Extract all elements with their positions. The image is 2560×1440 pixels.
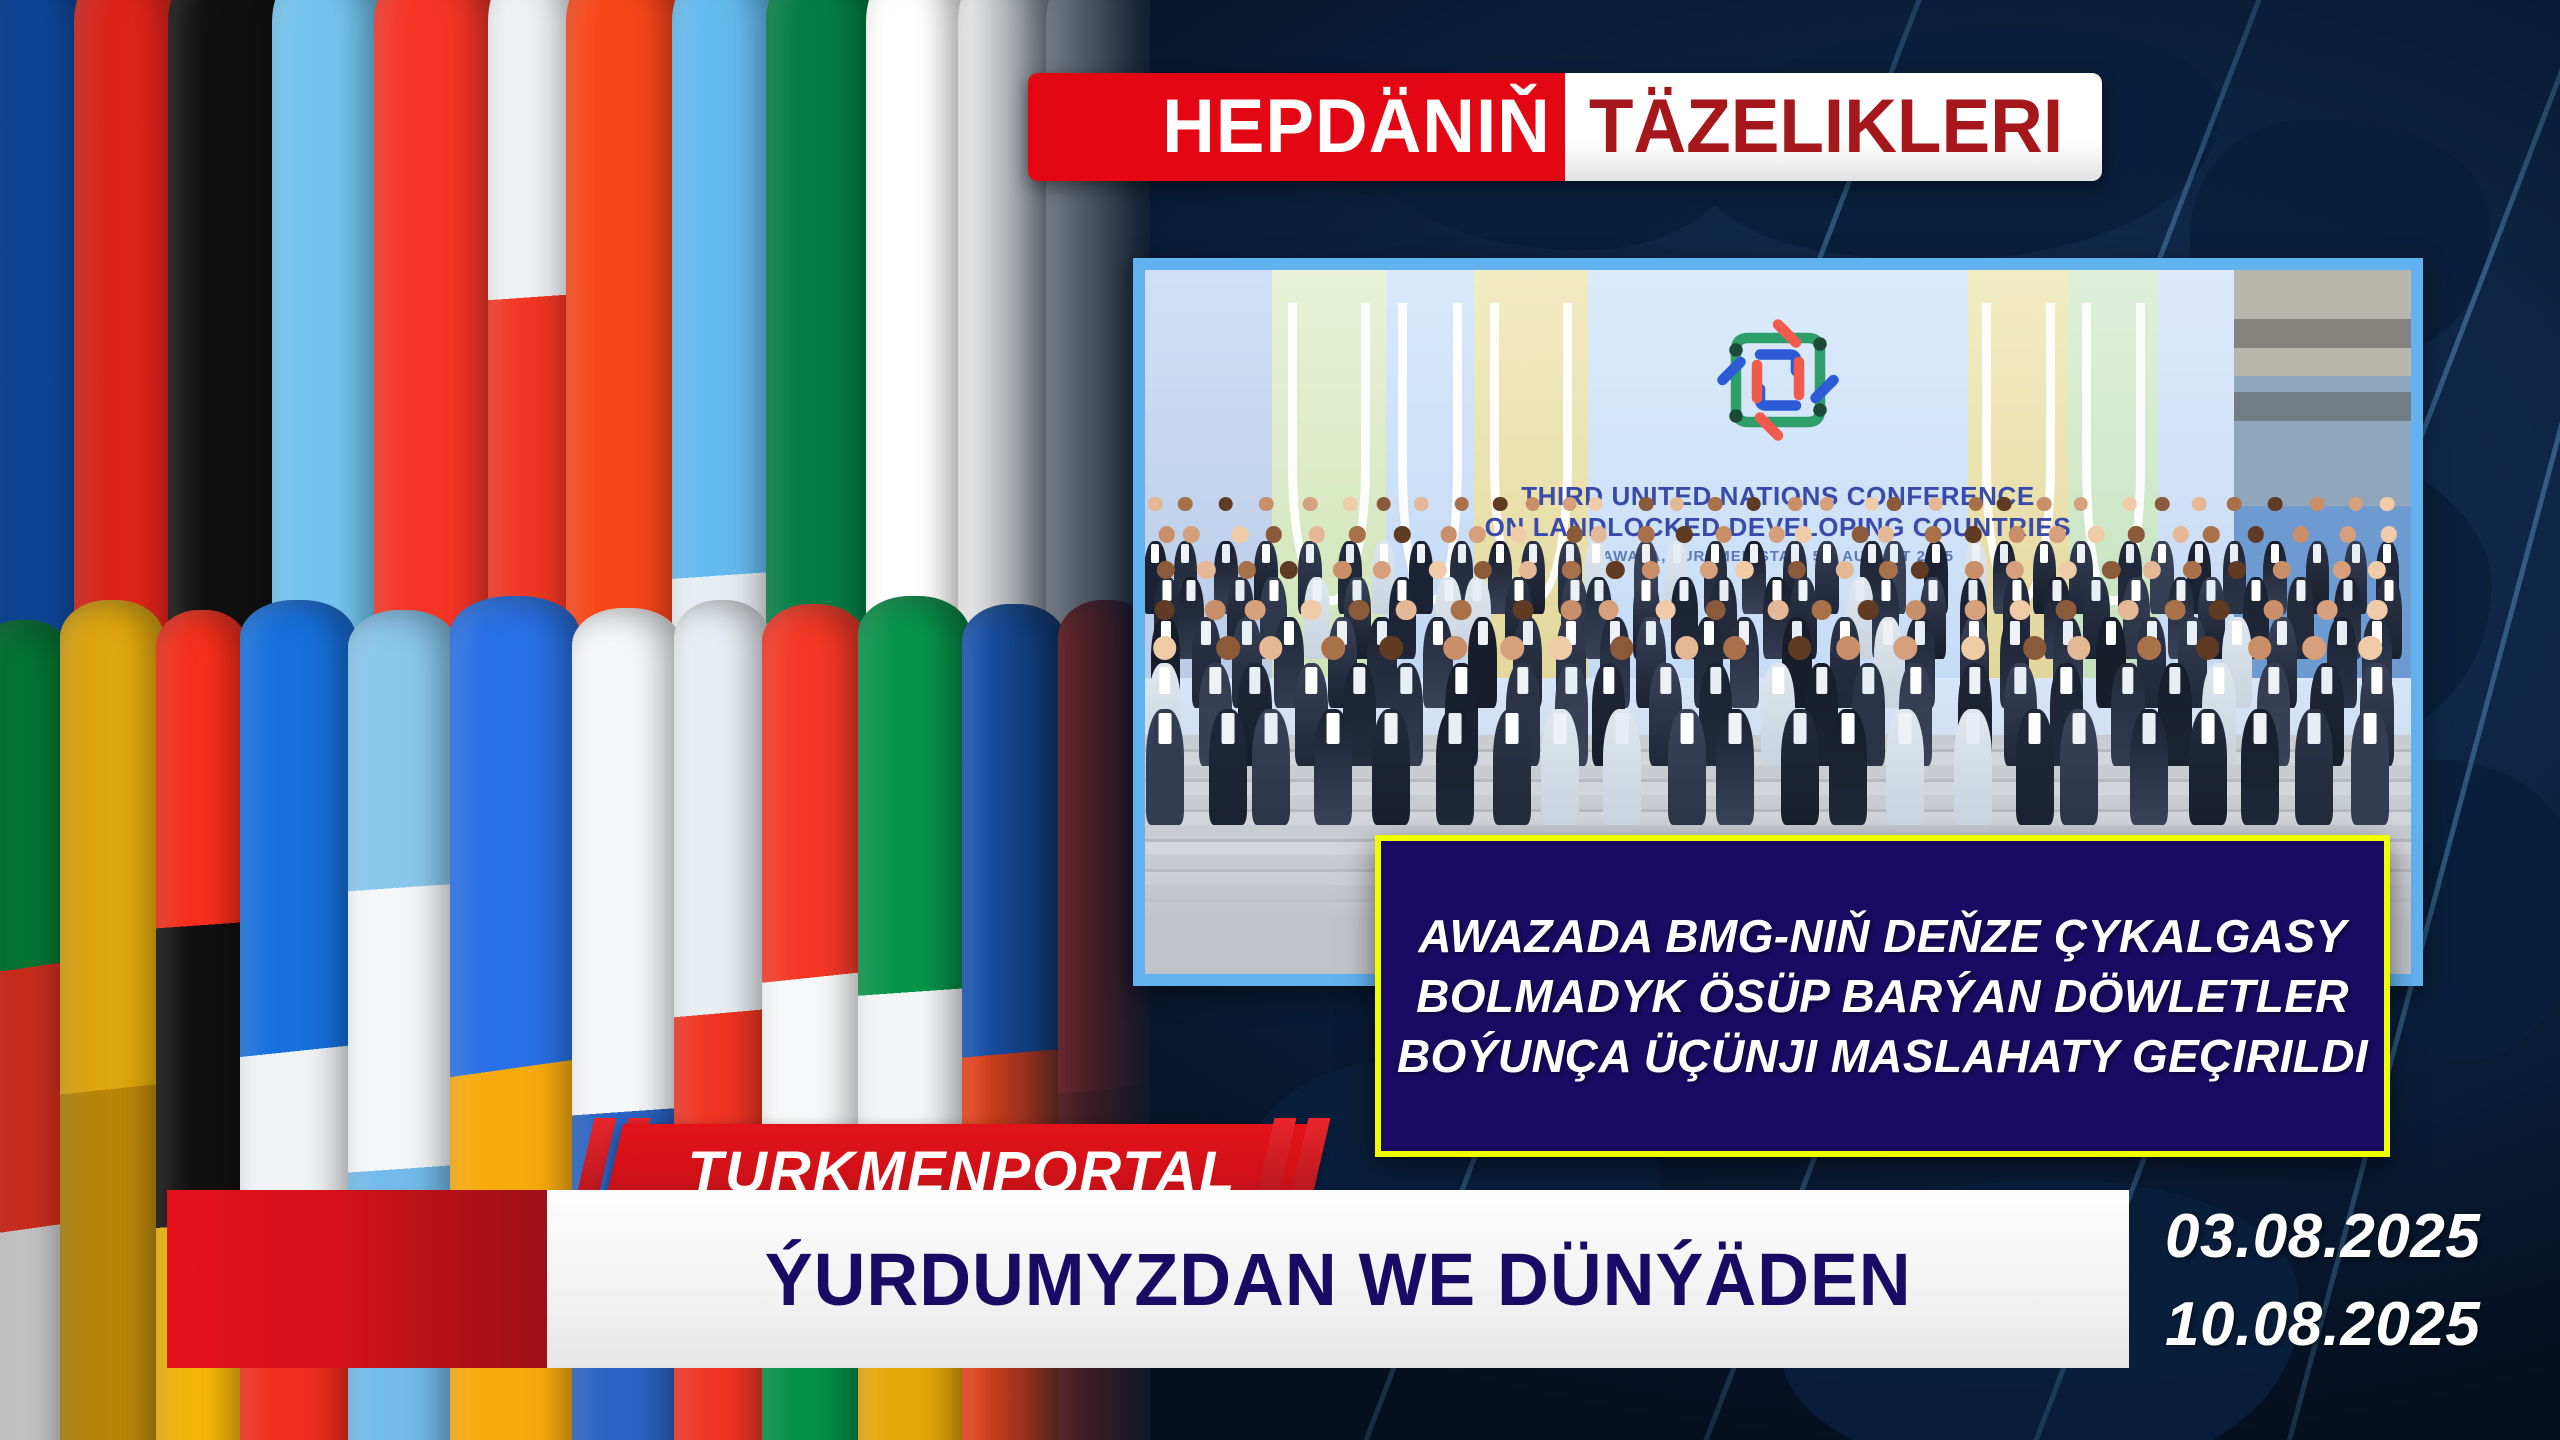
delegate-shirt [1592,544,1600,563]
delegate-head [2227,497,2242,512]
delegate-head [2138,636,2162,660]
delegate-figure [1781,709,1819,826]
delegate-head [1610,636,1634,660]
delegate-shirt [2213,667,2224,694]
banner-red-half: HEPDÄNIŇ [1028,73,1565,181]
delegate-head [1563,497,1578,512]
delegate-shirt [1517,667,1528,694]
delegate-head [2023,636,2047,660]
delegate-head [2208,600,2229,621]
delegate-shirt [1201,621,1211,645]
delegate-shirt [1710,667,1721,694]
bottom-red-block [167,1190,547,1368]
delegate-shirt [1750,544,1758,563]
delegate-shirt [2010,621,2020,645]
delegate-head [1396,600,1417,621]
delegate-shirt [1222,713,1235,743]
delegate-shirt [1680,713,1693,743]
delegate-shirt [1594,580,1603,601]
delegate-head [2165,600,2186,621]
delegate-shirt [2061,667,2072,694]
delegate-shirt [1181,544,1189,563]
delegate-figure [2130,709,2168,826]
delegate-shirt [2187,621,2197,645]
delegate-head [1343,497,1358,512]
delegate-head [1178,497,1193,512]
delegate-shirt [2028,713,2041,743]
delegate-shirt [1899,713,1912,743]
delegate-head [1588,497,1603,512]
delegate-figure [1730,617,1760,708]
delegate-head [1218,497,1233,512]
delegate-shirt [1284,621,1294,645]
delegate-shirt [1719,580,1728,601]
delegate-figure [1886,709,1924,826]
delegate-head [1887,497,1902,512]
delegate-shirt [2195,544,2203,563]
delegate-shirt [1523,621,1533,645]
delegate-head [1836,636,1860,660]
delegate-shirt [2176,580,2185,601]
delegate-shirt [2207,580,2216,601]
delegate-shirt [1456,667,1467,694]
delegate-shirt [2077,544,2085,563]
delegate-shirt [2201,713,2214,743]
delegate-shirt [1398,580,1407,601]
delegate-head [2067,636,2091,660]
delegate-shirt [2364,713,2377,743]
delegate-shirt [2158,544,2166,563]
delegate-head [1259,497,1274,512]
delegate-head [2273,561,2291,579]
delegate-shirt [1249,667,1260,694]
delegate-head [1500,636,1524,660]
delegate-head [1836,561,1854,579]
delegate-shirt [1772,580,1781,601]
delegate-head [2317,600,2338,621]
delegate-shirt [1793,713,1806,743]
delegate-figure [1493,709,1531,826]
delegate-shirt [2040,544,2048,563]
delegate-shirt [1306,544,1314,563]
delegate-head [1156,561,1174,579]
delegate-shirt [1262,544,1270,563]
delegate-shirt [1711,544,1719,563]
delegate-head [1205,600,1226,621]
delegate-shirt [1646,621,1656,645]
delegate-shirt [1868,544,1876,563]
delegate-figure [1716,709,1754,826]
date-range: 03.08.2025 10.08.2025 [2165,1206,2525,1356]
delegate-head [1244,600,1265,621]
delegate-head [1548,636,1572,660]
delegate-shirt [1327,713,1340,743]
delegate-shirt [2232,621,2242,645]
delegate-shirt [2308,713,2321,743]
delegate-head [1513,600,1534,621]
delegates-crowd [1145,552,2411,805]
delegate-shirt [1385,713,1398,743]
delegate-head [2010,600,2031,621]
delegate-head [1606,561,1624,579]
delegate-head [1997,497,2012,512]
delegate-shirt [1799,580,1808,601]
delegate-shirt [2106,621,2116,645]
delegate-shirt [1642,580,1651,601]
delegate-shirt [1506,713,1519,743]
delegate-figure [2016,709,2054,826]
delegate-shirt [1881,580,1890,601]
delegate-head [2074,497,2089,512]
delegate-shirt [1566,667,1577,694]
delegate-shirt [2321,667,2332,694]
delegate-shirt [1151,544,1159,563]
delegate-shirt [1883,621,1893,645]
delegate-head [2056,600,2077,621]
headline-line-2: BOLMADYK ÖSÜP BARÝAN DÖWLETLER [1416,973,2349,1019]
delegate-head [2263,600,2284,621]
delegate-figure [1668,709,1706,826]
delegate-shirt [1660,667,1671,694]
banner-white-half: TÄZELIKLERI [1565,73,2102,181]
delegate-figure [2189,709,2227,826]
delegate-shirt [1615,713,1628,743]
delegate-head [1598,600,1619,621]
bottom-white-bar: ÝURDUMYZDAN WE DÜNÝÄDEN [547,1190,2129,1368]
delegate-head [1451,600,1472,621]
delegate-figure [2060,709,2098,826]
delegate-head [1217,636,1241,660]
delegate-shirt [1890,544,1898,563]
delegate-shirt [1210,667,1221,694]
delegate-head [1705,600,1726,621]
delegate-shirt [1823,544,1831,563]
delegate-head [2123,497,2138,512]
delegate-shirt [1478,621,1488,645]
delegate-shirt [1433,621,1443,645]
delegate-head [1443,636,1467,660]
delegate-shirt [1554,713,1567,743]
delegate-figure [2351,709,2389,826]
delegate-shirt [1313,580,1322,601]
delegate-shirt [1863,667,1874,694]
delegate-shirt [1449,713,1462,743]
delegate-figure [2295,709,2333,826]
banner-word-hepdanin: HEPDÄNIŇ [1162,89,1551,165]
delegate-shirt [1703,621,1713,645]
delegate-head [1561,600,1582,621]
delegate-head [1526,497,1541,512]
delegate-shirt [1910,667,1921,694]
delegate-head [1811,600,1832,621]
delegate-shirt [1969,580,1978,601]
delegate-shirt [2015,667,2026,694]
delegate-shirt [2384,580,2393,601]
delegate-shirt [1967,713,1980,743]
delegate-head [2380,497,2395,512]
delegate-shirt [2343,580,2352,601]
delegate-shirt [1932,544,1940,563]
delegate-head [1929,497,1944,512]
delegate-shirt [1306,667,1317,694]
delegate-head [1655,600,1676,621]
delegate-shirt [1728,713,1741,743]
delegate-shirt [1514,580,1523,601]
delegate-head [1259,636,1283,660]
delegate-head [1454,497,1469,512]
delegate-shirt [1162,580,1171,601]
delegate-shirt [1856,580,1865,601]
delegate-head [2367,600,2388,621]
delegate-head [1905,600,1926,621]
headline-line-1: AWAZADA BMG-NIŇ DEŇZE ÇYKALGASY [1418,913,2346,959]
delegate-head [2310,497,2325,512]
delegate-shirt [2337,621,2347,645]
delegate-head [2155,497,2170,512]
delegate-figure [1372,709,1410,826]
delegate-shirt [1816,667,1827,694]
delegate-head [2037,497,2052,512]
delegate-shirt [1222,544,1230,563]
delegate-figure [1146,709,1184,826]
delegate-head [2117,600,2138,621]
delegate-head [2196,636,2220,660]
delegate-shirt [2383,544,2391,563]
delegate-head [1968,497,1983,512]
delegate-head [2358,636,2382,660]
delegate-head [2302,636,2326,660]
delegate-head [1380,636,1404,660]
delegate-head [1675,636,1699,660]
delegate-head [1376,497,1391,512]
delegate-shirt [1969,667,1980,694]
delegate-shirt [2253,713,2266,743]
delegate-shirt [1346,544,1354,563]
delegate-shirt [2122,667,2133,694]
delegate-head [1148,497,1163,512]
delegate-head [1280,561,1298,579]
delegate-head [1414,497,1429,512]
delegate-shirt [1242,621,1252,645]
delegate-head [1238,561,1256,579]
delegate-shirt [2012,580,2021,601]
date-to: 10.08.2025 [2165,1294,2480,1356]
delegate-shirt [1680,580,1689,601]
delegate-shirt [1236,580,1245,601]
delegate-shirt [1353,580,1362,601]
delegate-head [1820,497,1835,512]
delegate-head [2192,497,2207,512]
headline-box: AWAZADA BMG-NIŇ DEŇZE ÇYKALGASY BOLMADYK… [1375,835,2390,1157]
delegate-shirt [1158,713,1171,743]
delegate-head [1893,636,1917,660]
delegate-head [1768,600,1789,621]
un-lldc3-emblem-icon [1703,305,1853,455]
delegate-shirt [1264,713,1277,743]
delegate-head [1747,497,1762,512]
delegate-figure [1252,709,1290,826]
delegate-shirt [1417,544,1425,563]
delegate-shirt [1354,667,1365,694]
delegate-shirt [2296,580,2305,601]
delegate-head [1723,636,1747,660]
date-from: 03.08.2025 [2165,1206,2480,1268]
delegate-head [1961,636,1985,660]
delegate-head [1301,600,1322,621]
weekly-news-banner: HEPDÄNIŇ TÄZELIKLERI [1028,73,2102,181]
banner-word-tazelikleri: TÄZELIKLERI [1589,89,2063,165]
delegate-figure [2241,709,2279,826]
delegate-shirt [1929,580,1938,601]
delegate-shirt [1496,544,1504,563]
delegate-figure [1209,709,1247,826]
delegate-shirt [2126,544,2134,563]
delegate-shirt [1529,544,1537,563]
delegate-shirt [2169,667,2180,694]
delegate-shirt [2271,544,2279,563]
delegate-shirt [1570,580,1579,601]
delegate-figure [1954,709,1992,826]
delegate-head [1153,636,1177,660]
conference-title-line1: THIRD UNITED NATIONS CONFERENCE [1145,481,2411,512]
delegate-head [1669,497,1684,512]
delegate-head [1865,497,1880,512]
delegate-figure [1603,709,1641,826]
delegate-head [1788,636,1812,660]
delegate-head [1708,497,1723,512]
delegate-shirt [2277,621,2287,645]
delegate-shirt [2072,713,2085,743]
delegate-shirt [1842,713,1855,743]
delegate-head [2348,497,2363,512]
delegate-shirt [1269,580,1278,601]
delegate-head [1965,600,1986,621]
delegate-head [1639,497,1654,512]
delegate-shirt [1772,667,1783,694]
delegate-shirt [1444,580,1453,601]
delegate-shirt [2000,544,2008,563]
delegate-shirt [2352,544,2360,563]
delegate-head [1788,497,1803,512]
delegate-shirt [2268,667,2279,694]
headline-line-3: BOÝUNÇA ÜÇÜNJI MASLAHATY GEÇIRILDI [1397,1033,2368,1079]
delegate-head [2268,497,2283,512]
delegate-shirt [2143,713,2156,743]
delegate-shirt [1187,580,1196,601]
delegate-shirt [1603,667,1614,694]
delegate-head [1858,600,1879,621]
delegate-head [1197,561,1215,579]
delegate-shirt [1473,580,1482,601]
delegate-shirt [1458,544,1466,563]
poster-canvas: HEPDÄNIŇ TÄZELIKLERI [0,0,2560,1440]
delegate-head [2248,636,2272,660]
delegate-shirt [2132,580,2141,601]
delegate-shirt [1673,544,1681,563]
delegate-shirt [2053,580,2062,601]
delegate-shirt [1915,621,1925,645]
delegate-head [1303,497,1318,512]
delegate-shirt [2251,580,2260,601]
delegate-head [1322,636,1346,660]
delegate-shirt [1159,667,1170,694]
delegate-head [1493,497,1508,512]
delegate-figure [1541,709,1579,826]
delegate-head [1154,600,1175,621]
delegate-shirt [2371,667,2382,694]
delegate-figure [1314,709,1352,826]
delegate-shirt [2092,580,2101,601]
delegate-figure [1436,709,1474,826]
delegate-head [1349,600,1370,621]
delegate-shirt [1401,667,1412,694]
delegate-shirt [2313,544,2321,563]
bottom-title: ÝURDUMYZDAN WE DÜNÝÄDEN [765,1237,1912,1322]
delegate-figure [1829,709,1867,826]
